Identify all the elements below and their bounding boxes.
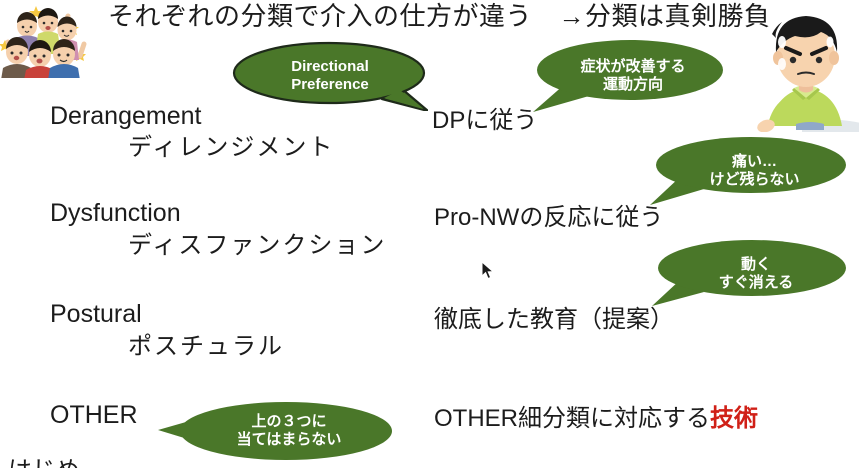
presentation-slide: それぞれの分類で介入の仕方が違う →分類は真剣勝負 Derangement ディ… [0,0,859,468]
classification-kana-derangement: ディレンジメント [128,133,334,163]
classification-name-postural: Postural [50,299,142,329]
treatment-other-text: OTHER細分類に対応する [434,405,710,432]
classification-name-other: OTHER [50,400,138,430]
classification-name-dysfunction: Dysfunction [50,198,181,228]
treatment-dysfunction: Pro-NWの反応に従う [434,203,663,233]
bubble-directional-preference: Directional Preference [232,41,428,111]
bubble-text-moves-disappears-quickly: 動く すぐ消える [711,256,802,293]
treatment-postural: 徹底した教育（提案） [434,305,674,335]
bubble-text-symptom-improving-direction: 症状が改善する 運動方向 [572,58,693,95]
bubble-painful-but-not-lasting: 痛い… けど残らない [646,135,849,207]
mouse-cursor [481,261,495,286]
bubble-moves-disappears-quickly: 動く すぐ消える [648,240,848,308]
cheering-crowd-illustration [0,0,88,78]
bubble-not-the-above-three: 上の３つに 当てはまらない [156,400,394,462]
bubble-symptom-improving-direction: 症状が改善する 運動方向 [527,38,727,114]
treatment-other-highlight: 技術 [710,405,758,432]
clipped-bottom-text: はじめ [8,457,80,468]
classification-name-derangement: Derangement [50,101,201,131]
bubble-text-painful-but-not-lasting: 痛い… けど残らない [701,153,807,190]
treatment-derangement: DPに従う [432,106,537,136]
bubble-text-not-the-above-three: 上の３つに 当てはまらない [229,413,350,450]
classification-kana-dysfunction: ディスファンクション [128,231,386,261]
slide-title: それぞれの分類で介入の仕方が違う →分類は真剣勝負 [108,0,771,32]
classification-kana-postural: ポスチュラル [128,332,284,362]
treatment-other: OTHER細分類に対応する技術 [434,404,758,434]
bubble-text-directional-preference: Directional Preference [283,58,377,95]
